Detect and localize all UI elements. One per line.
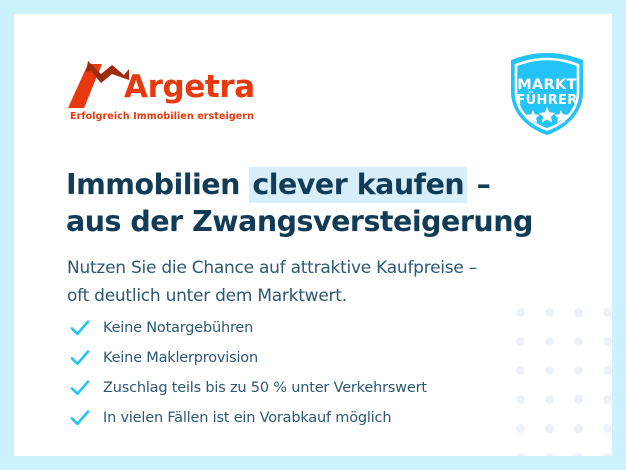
check-icon (69, 407, 91, 429)
argetra-logo[interactable]: Argetra Erfolgreich Immobilien ersteiger… (68, 58, 248, 130)
benefit-label: Keine Notargebühren (103, 320, 253, 336)
benefit-label: In vielen Fällen ist ein Vorabkauf mögli… (103, 410, 391, 426)
promo-card: Argetra Erfolgreich Immobilien ersteiger… (14, 14, 612, 456)
grid-dot (574, 453, 583, 456)
benefit-item: Keine Notargebühren (69, 313, 539, 343)
benefit-item: In vielen Fällen ist ein Vorabkauf mögli… (69, 403, 539, 433)
check-icon (69, 317, 91, 339)
headline-line2: aus der Zwangsversteigerung (66, 203, 536, 240)
market-leader-badge: MARKT FÜHRER (503, 50, 591, 138)
subtitle-line2: oft deutlich unter dem Marktwert. (67, 283, 557, 311)
grid-dot (574, 308, 583, 317)
grid-dot (545, 424, 554, 433)
grid-dot (574, 424, 583, 433)
check-icon (69, 377, 91, 399)
grid-dot (603, 424, 612, 433)
grid-dot (545, 337, 554, 346)
grid-dot (574, 337, 583, 346)
grid-dot (574, 395, 583, 404)
grid-dot (545, 453, 554, 456)
page-title: Immobilien clever kaufen – aus der Zwang… (66, 166, 536, 240)
grid-dot (603, 453, 612, 456)
page-frame: Argetra Erfolgreich Immobilien ersteiger… (0, 0, 626, 470)
headline-line1-prefix: Immobilien (66, 168, 249, 201)
check-icon (69, 347, 91, 369)
grid-dot (603, 337, 612, 346)
benefit-item: Zuschlag teils bis zu 50 % unter Verkehr… (69, 373, 539, 403)
argetra-roof-a-icon (68, 58, 130, 108)
grid-dot (574, 366, 583, 375)
headline-line1-suffix: – (467, 168, 490, 201)
headline-highlight: clever kaufen (249, 167, 467, 203)
argetra-tagline: Erfolgreich Immobilien ersteigern (70, 111, 254, 122)
benefit-item: Keine Maklerprovision (69, 343, 539, 373)
grid-dot (545, 395, 554, 404)
page-subtitle: Nutzen Sie die Chance auf attraktive Kau… (67, 255, 557, 310)
svg-text:MARKT: MARKT (517, 77, 576, 93)
subtitle-line1: Nutzen Sie die Chance auf attraktive Kau… (67, 258, 477, 278)
grid-dot (545, 366, 554, 375)
svg-text:FÜHRER: FÜHRER (516, 92, 577, 108)
grid-dot (603, 366, 612, 375)
argetra-wordmark: Argetra (124, 72, 255, 103)
grid-dot (603, 395, 612, 404)
grid-dot (516, 453, 525, 456)
benefit-label: Zuschlag teils bis zu 50 % unter Verkehr… (103, 380, 427, 396)
grid-dot (603, 308, 612, 317)
benefits-list: Keine NotargebührenKeine Maklerprovision… (69, 313, 539, 433)
benefit-label: Keine Maklerprovision (103, 350, 258, 366)
